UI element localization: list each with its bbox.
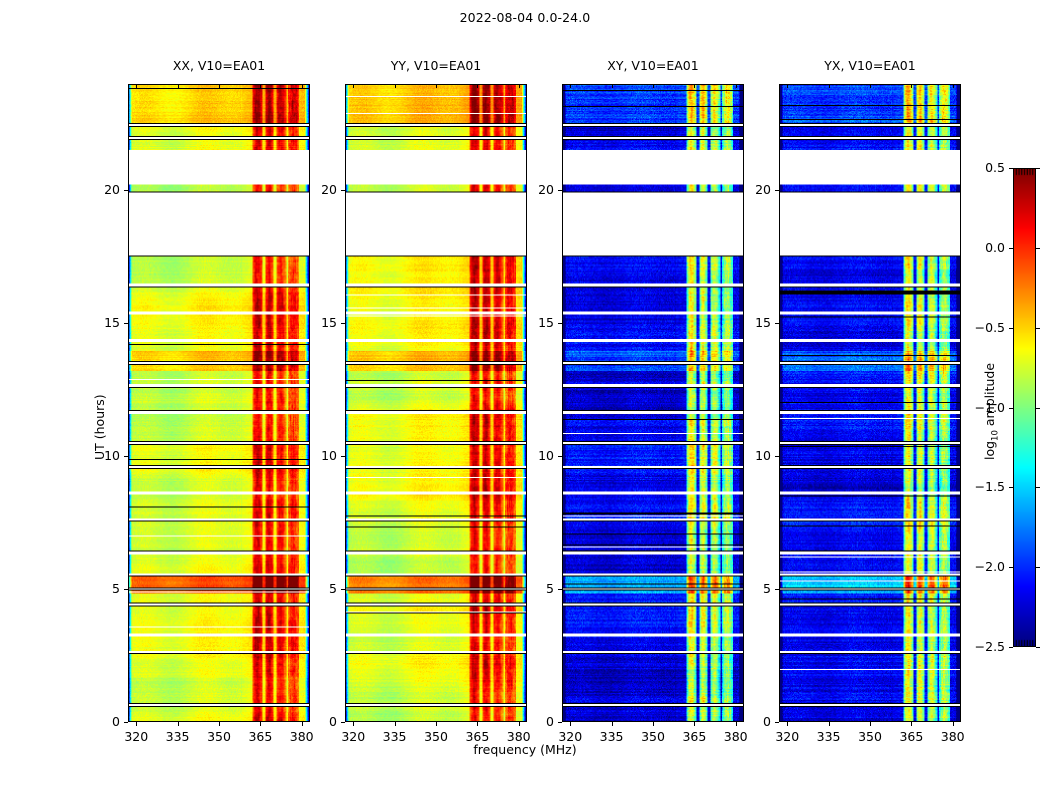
colorbar-tick-mark-left: [1009, 248, 1013, 249]
x-tick-mark: [870, 722, 871, 726]
colorbar-tick-mark-left: [1009, 328, 1013, 329]
panel-title-yx: YX, V10=EA01: [779, 58, 961, 73]
y-tick-label: 20: [741, 182, 771, 197]
colorbar-tick-label: 0.0: [969, 240, 1005, 255]
x-tick-mark: [260, 722, 261, 726]
x-tick-mark-top: [953, 84, 954, 88]
x-tick-mark: [829, 722, 830, 726]
y-tick-label: 20: [90, 182, 120, 197]
colorbar-tick-mark-left: [1009, 647, 1013, 648]
x-tick-mark-top: [911, 84, 912, 88]
x-tick-mark: [136, 722, 137, 726]
heatmap-image-xx: [129, 85, 309, 721]
figure-canvas: 2022-08-04 0.0-24.0 XX, V10=EA01 YY, V10…: [0, 0, 1050, 800]
y-axis-label: UT (hours): [92, 394, 107, 460]
x-tick-mark: [395, 722, 396, 726]
y-tick-mark: [124, 589, 128, 590]
colorbar-tick-mark-left: [1009, 168, 1013, 169]
x-tick-mark-top: [260, 84, 261, 88]
x-tick-mark-top: [612, 84, 613, 88]
x-tick-mark-top: [178, 84, 179, 88]
y-tick-label: 5: [524, 581, 554, 596]
x-tick-mark-top: [694, 84, 695, 88]
colorbar-tick-mark: [1036, 168, 1040, 169]
panel-title-yy: YY, V10=EA01: [345, 58, 527, 73]
x-tick-mark-top: [219, 84, 220, 88]
x-tick-mark: [787, 722, 788, 726]
colorbar-tick-mark: [1036, 647, 1040, 648]
x-tick-mark-top: [136, 84, 137, 88]
x-axis-label: frequency (MHz): [0, 742, 1050, 757]
x-tick-mark: [953, 722, 954, 726]
y-tick-label: 5: [90, 581, 120, 596]
x-tick-mark: [436, 722, 437, 726]
x-tick-mark: [519, 722, 520, 726]
x-tick-mark-top: [302, 84, 303, 88]
y-tick-label: 5: [307, 581, 337, 596]
colorbar-tick-label: −1.5: [969, 479, 1005, 494]
y-tick-label: 0: [307, 714, 337, 729]
y-tick-label: 5: [741, 581, 771, 596]
colorbar-tick-mark: [1036, 408, 1040, 409]
x-tick-mark-top: [477, 84, 478, 88]
y-tick-mark: [775, 323, 779, 324]
x-tick-mark-top: [870, 84, 871, 88]
x-tick-mark: [694, 722, 695, 726]
x-tick-mark: [477, 722, 478, 726]
x-tick-mark-top: [829, 84, 830, 88]
x-tick-mark-top: [353, 84, 354, 88]
x-tick-mark-top: [787, 84, 788, 88]
x-tick-mark: [353, 722, 354, 726]
y-tick-mark: [775, 722, 779, 723]
y-tick-mark: [558, 722, 562, 723]
y-tick-mark: [341, 190, 345, 191]
x-tick-mark: [302, 722, 303, 726]
y-tick-mark: [341, 323, 345, 324]
colorbar-tick-mark: [1036, 567, 1040, 568]
y-tick-mark: [558, 323, 562, 324]
x-tick-mark-top: [653, 84, 654, 88]
y-tick-label: 0: [90, 714, 120, 729]
x-tick-mark-top: [570, 84, 571, 88]
y-tick-mark: [124, 323, 128, 324]
colorbar-tick-label: −2.0: [969, 559, 1005, 574]
y-tick-mark: [558, 190, 562, 191]
y-tick-mark: [775, 190, 779, 191]
x-tick-mark: [653, 722, 654, 726]
y-tick-label: 15: [524, 315, 554, 330]
heatmap-image-yx: [780, 85, 960, 721]
y-tick-mark: [341, 722, 345, 723]
heatmap-panel-xx[interactable]: [128, 84, 310, 722]
x-tick-mark-top: [436, 84, 437, 88]
figure-suptitle: 2022-08-04 0.0-24.0: [0, 10, 1050, 25]
y-tick-mark: [124, 456, 128, 457]
x-tick-mark-top: [519, 84, 520, 88]
panel-title-xx: XX, V10=EA01: [128, 58, 310, 73]
colorbar-tick-mark-left: [1009, 408, 1013, 409]
x-tick-mark-top: [395, 84, 396, 88]
y-tick-label: 15: [307, 315, 337, 330]
heatmap-panel-yy[interactable]: [345, 84, 527, 722]
y-tick-mark: [775, 456, 779, 457]
y-tick-mark: [558, 456, 562, 457]
colorbar-tick-label: −2.5: [969, 639, 1005, 654]
y-tick-label: 10: [307, 448, 337, 463]
colorbar[interactable]: [1013, 168, 1036, 647]
x-tick-mark: [178, 722, 179, 726]
heatmap-panel-xy[interactable]: [562, 84, 744, 722]
y-tick-label: 10: [524, 448, 554, 463]
y-tick-label: 15: [90, 315, 120, 330]
colorbar-label-base: log: [982, 441, 997, 460]
y-tick-mark: [124, 190, 128, 191]
y-tick-mark: [341, 456, 345, 457]
colorbar-tick-mark: [1036, 487, 1040, 488]
panel-title-xy: XY, V10=EA01: [562, 58, 744, 73]
x-tick-mark: [911, 722, 912, 726]
colorbar-tick-label: 0.5: [969, 160, 1005, 175]
colorbar-label-subscript: 10: [991, 430, 1001, 441]
x-tick-mark: [570, 722, 571, 726]
x-tick-mark-top: [736, 84, 737, 88]
y-tick-label: 10: [741, 448, 771, 463]
colorbar-label-rest: amplitude: [982, 363, 997, 430]
x-tick-mark: [736, 722, 737, 726]
y-tick-mark: [341, 589, 345, 590]
y-tick-label: 20: [524, 182, 554, 197]
colorbar-tick-mark: [1036, 328, 1040, 329]
y-tick-label: 20: [307, 182, 337, 197]
colorbar-tick-mark-left: [1009, 487, 1013, 488]
y-tick-mark: [124, 722, 128, 723]
heatmap-panel-yx[interactable]: [779, 84, 961, 722]
heatmap-image-yy: [346, 85, 526, 721]
colorbar-tick-mark-left: [1009, 567, 1013, 568]
x-tick-mark: [219, 722, 220, 726]
colorbar-label: log10 amplitude: [982, 363, 1001, 460]
colorbar-tick-mark: [1036, 248, 1040, 249]
y-tick-mark: [558, 589, 562, 590]
x-tick-mark: [612, 722, 613, 726]
y-tick-label: 15: [741, 315, 771, 330]
colorbar-tick-label: −0.5: [969, 320, 1005, 335]
heatmap-image-xy: [563, 85, 743, 721]
y-tick-label: 0: [741, 714, 771, 729]
y-tick-label: 0: [524, 714, 554, 729]
y-tick-mark: [775, 589, 779, 590]
